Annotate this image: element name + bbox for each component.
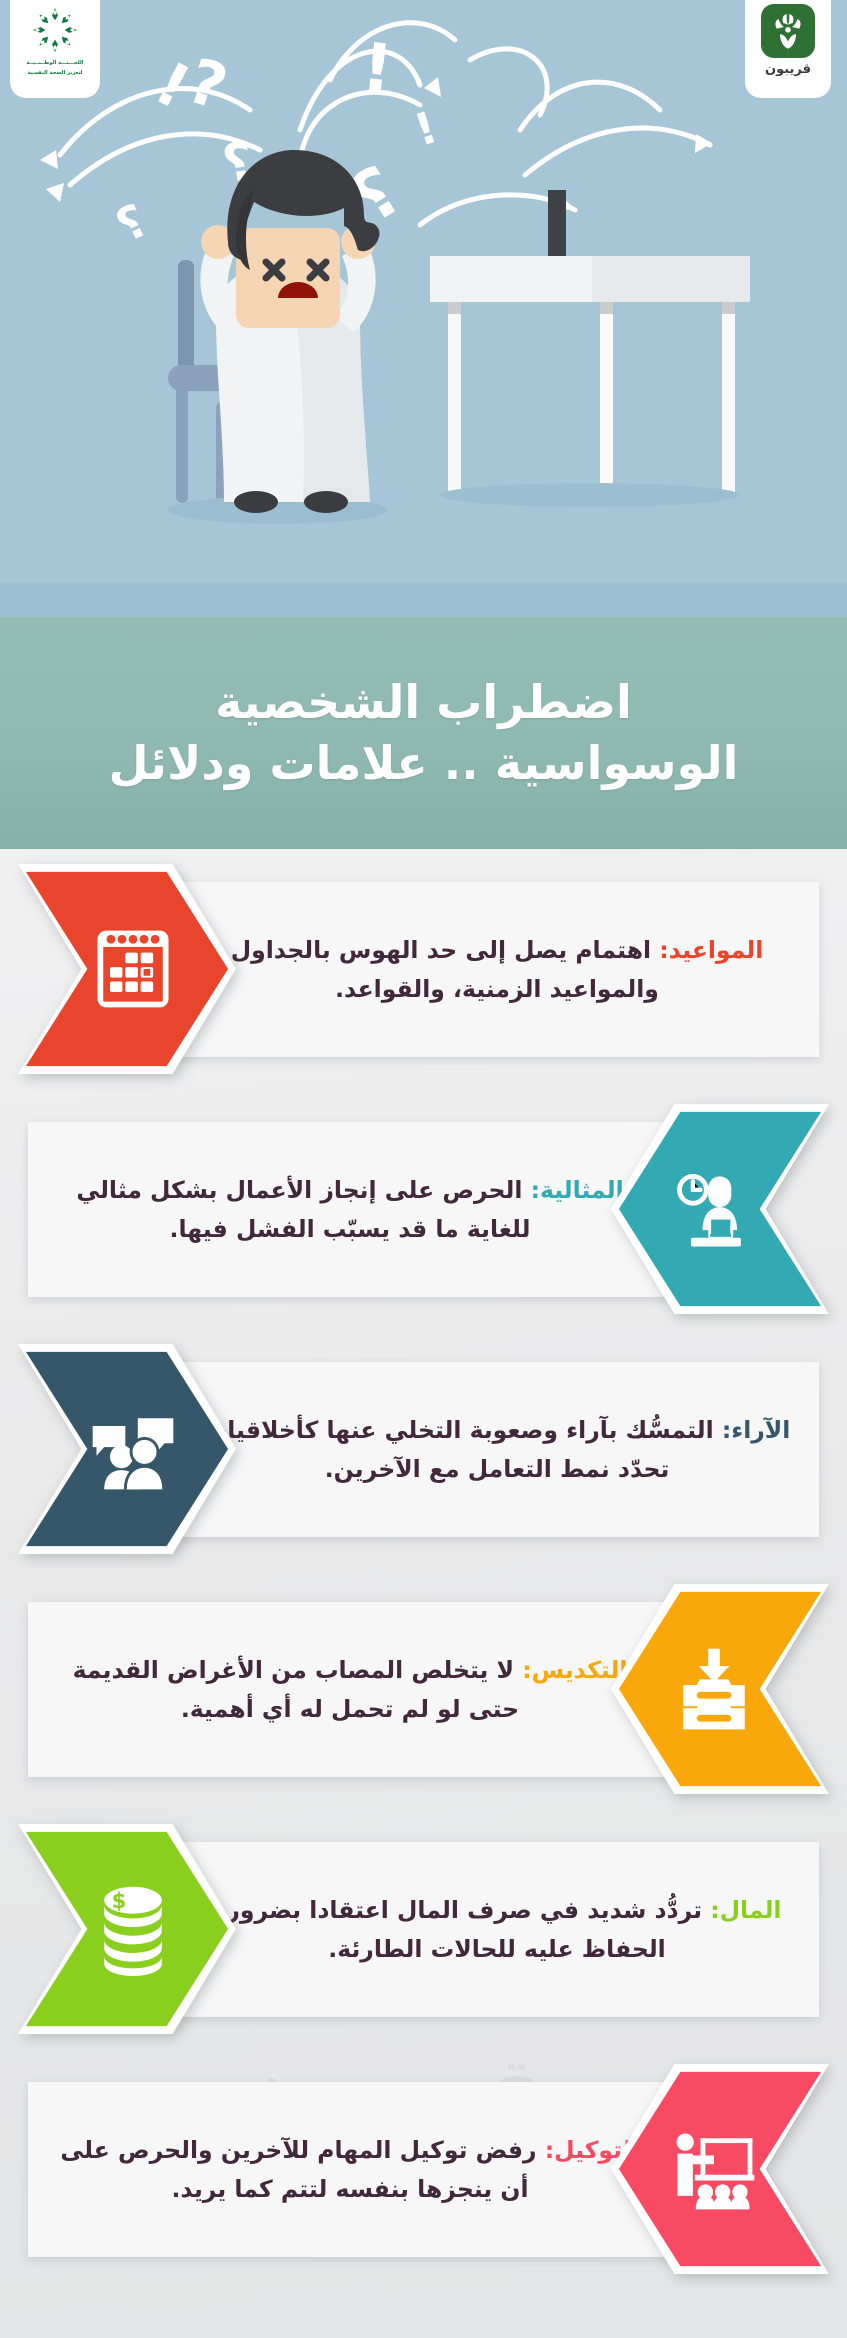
- symptom-paragraph: المال: تردُّد شديد في صرف المال اعتقادا …: [197, 1891, 797, 1967]
- symptom-chevron-badge: [611, 1089, 829, 1329]
- hero-floor: [0, 583, 847, 617]
- symptom-card: التوكيل: رفض توكيل المهام للآخرين والحرص…: [28, 2082, 672, 2257]
- symptom-row: المال: تردُّد شديد في صرف المال اعتقادا …: [0, 1809, 847, 2049]
- symptom-card: المواعيد: اهتمام يصل إلى حد الهوس بالجدا…: [175, 882, 819, 1057]
- symptom-paragraph: المثالية: الحرص على إنجاز الأعمال بشكل م…: [50, 1171, 650, 1247]
- qareeboon-mark-tile: [761, 4, 815, 58]
- svg-text:$: $: [112, 1888, 127, 1913]
- committee-logo-line1: اللجـــنـــة الوطــنــيــة: [26, 59, 83, 68]
- symptom-chevron-badge: [611, 1569, 829, 1809]
- symptom-row: المواعيد: اهتمام يصل إلى حد الهوس بالجدا…: [0, 849, 847, 1089]
- committee-logo-line2: لتعزيز الصحة النفسية: [28, 69, 83, 78]
- symptom-row: الآراء: التمسُّك بآراء وصعوبة التخلي عنه…: [0, 1329, 847, 1569]
- symptoms-list: قريبون قريبون قريبون المواعيد: اهتمام يص…: [0, 849, 847, 2338]
- symptom-description: لا يتخلص المصاب من الأغراض القديمة حتى ل…: [73, 1656, 523, 1722]
- symptom-paragraph: الآراء: التمسُّك بآراء وصعوبة التخلي عنه…: [197, 1411, 797, 1487]
- symptom-text-wrap: المثالية: الحرص على إنجاز الأعمال بشكل م…: [28, 1122, 672, 1297]
- symptom-row: التوكيل: رفض توكيل المهام للآخرين والحرص…: [0, 2049, 847, 2289]
- hero-illustration-area: ? ؟ ؟ ! ! ؟ !: [0, 0, 847, 617]
- qareeboon-logo: قريبون: [745, 0, 831, 98]
- coins-stack-icon: $: [24, 1809, 242, 2049]
- symptom-card: المال: تردُّد شديد في صرف المال اعتقادا …: [175, 1842, 819, 2017]
- symptom-paragraph: التكديس: لا يتخلص المصاب من الأغراض القد…: [50, 1651, 650, 1727]
- symptom-description: التمسُّك بآراء وصعوبة التخلي عنها كأخلاق…: [204, 1416, 722, 1482]
- symptom-card: المثالية: الحرص على إنجاز الأعمال بشكل م…: [28, 1122, 672, 1297]
- qareeboon-mark-icon: [768, 11, 808, 51]
- symptom-text-wrap: التوكيل: رفض توكيل المهام للآخرين والحرص…: [28, 2082, 672, 2257]
- symptom-text-wrap: التكديس: لا يتخلص المصاب من الأغراض القد…: [28, 1602, 672, 1777]
- symptom-chevron-badge: [18, 1329, 236, 1569]
- person-clock-desk-icon: [605, 1089, 823, 1329]
- symptom-text-wrap: المواعيد: اهتمام يصل إلى حد الهوس بالجدا…: [175, 882, 819, 1057]
- infographic-page: ? ؟ ؟ ! ! ؟ !: [0, 0, 847, 2338]
- symptom-card: الآراء: التمسُّك بآراء وصعوبة التخلي عنه…: [175, 1362, 819, 1537]
- symptom-row: المثالية: الحرص على إنجاز الأعمال بشكل م…: [0, 1089, 847, 1329]
- title-banner: اضطراب الشخصية الوسواسية .. علامات ودلائ…: [0, 617, 847, 849]
- stressed-man-character: [138, 110, 458, 580]
- calendar-icon: [24, 849, 242, 1089]
- symptom-description: رفض توكيل المهام للآخرين والحرص على أن ي…: [60, 2136, 544, 2202]
- presenter-board-audience-icon: [605, 2049, 823, 2289]
- symptom-text-wrap: المال: تردُّد شديد في صرف المال اعتقادا …: [175, 1842, 819, 2017]
- symptom-text-wrap: الآراء: التمسُّك بآراء وصعوبة التخلي عنه…: [175, 1362, 819, 1537]
- symptom-chevron-badge: [18, 849, 236, 1089]
- symptom-keyword: الآراء:: [722, 1416, 791, 1444]
- symptom-row: التكديس: لا يتخلص المصاب من الأغراض القد…: [0, 1569, 847, 1809]
- symptom-description: تردُّد شديد في صرف المال اعتقادا بضرورة …: [213, 1896, 711, 1962]
- people-speech-bubbles-icon: [24, 1329, 242, 1569]
- symptom-description: الحرص على إنجاز الأعمال بشكل مثالي للغاي…: [76, 1176, 530, 1242]
- symptom-paragraph: المواعيد: اهتمام يصل إلى حد الهوس بالجدا…: [197, 931, 797, 1007]
- desk-with-monitor: [430, 190, 770, 580]
- page-title-line2: الوسواسية .. علامات ودلائل: [109, 734, 739, 793]
- page-title-line1: اضطراب الشخصية: [215, 673, 632, 732]
- symptom-chevron-badge: [611, 2049, 829, 2289]
- national-committee-logo: اللجـــنـــة الوطــنــيــة لتعزيز الصحة …: [10, 0, 100, 98]
- archive-download-icon: [605, 1569, 823, 1809]
- symptom-paragraph: التوكيل: رفض توكيل المهام للآخرين والحرص…: [50, 2131, 650, 2207]
- qareeboon-logo-label: قريبون: [765, 62, 811, 77]
- symptom-chevron-badge: $: [18, 1809, 236, 2049]
- symptom-keyword: المواعيد:: [659, 936, 763, 964]
- committee-mark-icon: [31, 6, 79, 54]
- symptom-keyword: المال:: [710, 1896, 781, 1924]
- symptom-description: اهتمام يصل إلى حد الهوس بالجداول والمواع…: [231, 936, 660, 1002]
- symptom-card: التكديس: لا يتخلص المصاب من الأغراض القد…: [28, 1602, 672, 1777]
